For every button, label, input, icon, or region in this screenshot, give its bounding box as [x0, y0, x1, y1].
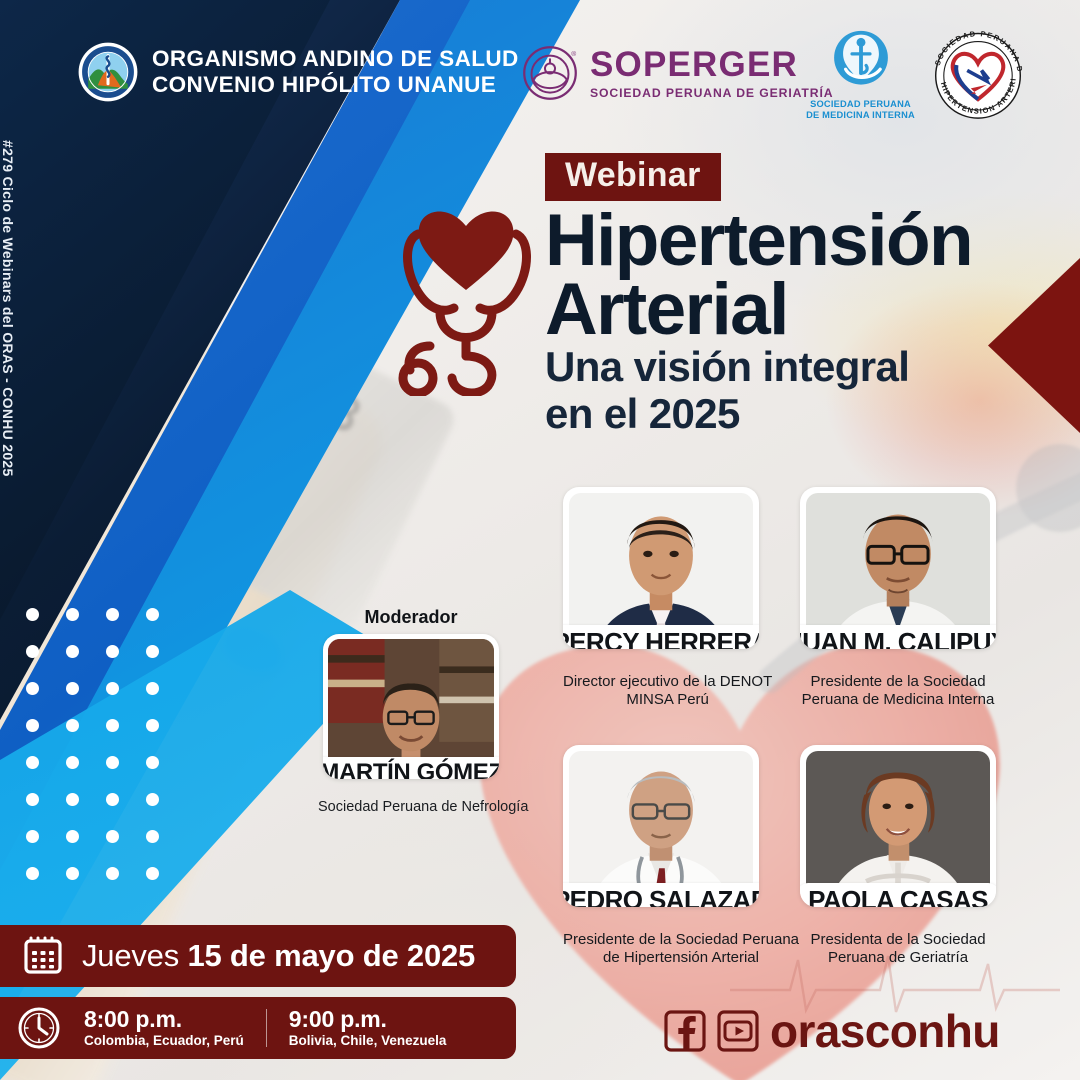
speaker-role: Presidente de la Sociedad Peruana de Hip… — [563, 931, 799, 967]
time-zone: Bolivia, Chile, Venezuela — [289, 1034, 447, 1049]
clock-icon — [16, 1005, 62, 1051]
speaker-avatar — [569, 493, 753, 643]
social-row: orasconhu — [664, 1008, 1000, 1054]
speaker-role: Presidenta de la Sociedad Peruana de Ger… — [800, 931, 996, 967]
sociedad-peruana-medicina-interna-logo: SOCIEDAD PERUANA DE MEDICINA INTERNA — [803, 27, 918, 122]
webinar-series-label: #279 Ciclo de Webinars del ORAS - CONHU … — [0, 140, 16, 420]
speaker-avatar — [806, 751, 990, 901]
oras-logo-text: ORGANISMO ANDINO DE SALUD CONVENIO HIPÓL… — [152, 46, 519, 99]
logo-bar: ORGANISMO ANDINO DE SALUD CONVENIO HIPÓL… — [0, 0, 1080, 150]
soperger-mark-icon: ® — [522, 45, 578, 101]
speaker-photo-card: PERCY HERRERA — [563, 487, 759, 649]
subtitle-line-2: en el 2025 — [545, 390, 909, 437]
webinar-badge: Webinar — [545, 153, 721, 201]
speaker-name: PERCY HERRERA — [563, 625, 759, 649]
time-hour: 9:00 p.m. — [289, 1007, 447, 1032]
speaker-name: JUAN M. CALIPUY — [800, 625, 996, 649]
speaker-card-percy-herrera: PERCY HERRERA Director ejecutivo de la D… — [563, 487, 772, 709]
speaker-role-line2: de Hipertensión Arterial — [563, 949, 799, 967]
time-entry-2: 9:00 p.m. Bolivia, Chile, Venezuela — [289, 1007, 447, 1048]
time-entry-1: 8:00 p.m. Colombia, Ecuador, Perú — [84, 1007, 244, 1048]
speaker-name: PAOLA CASAS — [800, 883, 996, 907]
subtitle-line-1: Una visión integral — [545, 343, 909, 390]
soperger-subtitle: SOCIEDAD PERUANA DE GERIATRÍA — [590, 86, 833, 100]
calendar-icon — [22, 935, 64, 977]
spmi-logo-text: SOCIEDAD PERUANA DE MEDICINA INTERNA — [803, 99, 918, 122]
moderator-label: Moderador — [318, 607, 504, 628]
speaker-avatar — [806, 493, 990, 643]
spmi-line1: SOCIEDAD PERUANA — [803, 99, 918, 110]
date-strong: 15 de mayo de 2025 — [187, 938, 475, 973]
speaker-photo-card: JUAN M. CALIPUY — [800, 487, 996, 649]
spmi-line2: DE MEDICINA INTERNA — [803, 110, 918, 121]
svg-text:®: ® — [571, 50, 576, 58]
speaker-photo-card: PEDRO SALAZAR — [563, 745, 759, 907]
moderator-block: Moderador — [318, 607, 504, 816]
title-line-2: Arterial — [545, 276, 972, 345]
moderator-name: MARTÍN GÓMEZ — [323, 757, 499, 779]
sociedad-peruana-hipertension-arterial-logo: SOCIEDAD PERUANA DE HIPERTENSION ARTERIA… — [924, 20, 1032, 128]
speaker-card-juan-calipuy: JUAN M. CALIPUY Presidente de la Socieda… — [800, 487, 996, 709]
speaker-role-line1: Presidente de la Sociedad — [800, 673, 996, 691]
speaker-role-line1: Director ejecutivo de la DENOT — [563, 673, 772, 691]
speaker-name: PEDRO SALAZAR — [563, 883, 759, 907]
event-date: Jueves 15 de mayo de 2025 — [82, 938, 475, 974]
webinar-poster: 12886 #279 Ciclo de Webinars del ORAS - … — [0, 0, 1080, 1080]
facebook-icon[interactable] — [664, 1010, 706, 1052]
heart-stethoscope-icon — [396, 196, 556, 396]
time-hour: 8:00 p.m. — [84, 1007, 244, 1032]
social-handle[interactable]: orasconhu — [770, 1008, 1000, 1054]
date-bar: Jueves 15 de mayo de 2025 — [0, 925, 516, 987]
moderator-role: Sociedad Peruana de Nefrología — [318, 799, 504, 816]
time-separator — [266, 1009, 267, 1047]
oras-seal-icon — [78, 42, 138, 102]
speaker-role-line2: Peruana de Medicina Interna — [800, 691, 996, 709]
speaker-card-pedro-salazar: PEDRO SALAZAR Presidente de la Sociedad … — [563, 745, 799, 967]
moderator-photo-card: MARTÍN GÓMEZ — [323, 634, 499, 779]
youtube-icon[interactable] — [717, 1010, 759, 1052]
speaker-photo-card: PAOLA CASAS — [800, 745, 996, 907]
speaker-role-line1: Presidenta de la Sociedad — [800, 931, 996, 949]
time-bar: 8:00 p.m. Colombia, Ecuador, Perú 9:00 p… — [0, 997, 516, 1059]
dot-grid-pattern — [0, 608, 196, 908]
moderator-avatar — [328, 639, 494, 774]
speaker-role-line2: MINSA Perú — [563, 691, 772, 709]
title-line-1: Hipertensión — [545, 207, 972, 276]
time-zone: Colombia, Ecuador, Perú — [84, 1034, 244, 1049]
speaker-role: Director ejecutivo de la DENOT MINSA Per… — [563, 673, 772, 709]
page-title: Hipertensión Arterial — [545, 207, 972, 344]
spmi-mark-icon — [829, 27, 893, 91]
oras-conhu-logo: ORGANISMO ANDINO DE SALUD CONVENIO HIPÓL… — [78, 42, 519, 102]
oras-logo-line1: ORGANISMO ANDINO DE SALUD — [152, 46, 519, 72]
speaker-card-paola-casas: PAOLA CASAS Presidenta de la Sociedad Pe… — [800, 745, 996, 967]
oras-logo-line2: CONVENIO HIPÓLITO UNANUE — [152, 72, 519, 98]
page-subtitle: Una visión integral en el 2025 — [545, 343, 909, 437]
speaker-role: Presidente de la Sociedad Peruana de Med… — [800, 673, 996, 709]
speaker-role-line2: Peruana de Geriatría — [800, 949, 996, 967]
speaker-avatar — [569, 751, 753, 901]
soperger-logo: ® SOPERGER SOCIEDAD PERUANA DE GERIATRÍA — [522, 45, 833, 101]
date-prefix: Jueves — [82, 938, 187, 973]
speaker-role-line1: Presidente de la Sociedad Peruana — [563, 931, 799, 949]
soperger-wordmark: SOPERGER — [590, 47, 833, 82]
